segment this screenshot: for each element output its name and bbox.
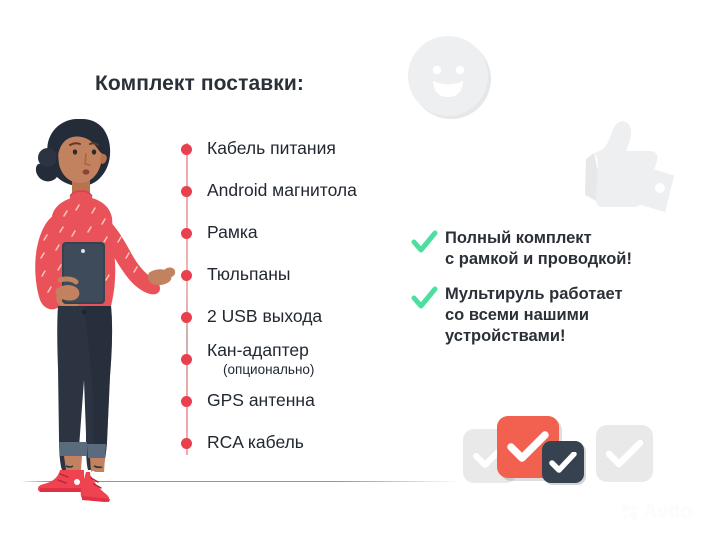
checkbox-cards-decoration (463, 416, 653, 488)
page-title: Комплект поставки: (95, 72, 304, 96)
bullet-dot-icon (181, 438, 192, 449)
list-item: Кан-адаптер (опционально) (181, 338, 431, 380)
list-item: Тюльпаны (181, 254, 431, 296)
bullet-dot-icon (181, 396, 192, 407)
benefits-list: Полный комплект с рамкой и проводкой! Му… (411, 228, 701, 361)
bullet-dot-icon (181, 354, 192, 365)
bullet-dot-icon (181, 186, 192, 197)
list-item-label: 2 USB выхода (207, 307, 322, 327)
list-item-label: Тюльпаны (207, 265, 290, 285)
check-icon (549, 452, 577, 473)
list-item-label: Android магнитола (207, 181, 357, 201)
list-item: Рамка (181, 212, 431, 254)
kit-contents-list: Кабель питания Android магнитола Рамка Т… (181, 128, 431, 464)
list-item-label: RCA кабель (207, 433, 304, 453)
list-item-note: (опционально) (207, 362, 314, 377)
checkbox-card-dark (542, 441, 584, 483)
avito-logo-icon (620, 502, 640, 522)
list-item-label: Кабель питания (207, 139, 336, 159)
list-item: GPS антенна (181, 380, 431, 422)
bullet-dot-icon (181, 144, 192, 155)
avito-watermark: Avito (620, 500, 693, 524)
thumbs-up-icon (572, 115, 684, 219)
list-item: Кабель питания (181, 128, 431, 170)
woman-pointing-with-tablet-illustration (14, 112, 178, 502)
benefit-label: Мультируль работает со всеми нашими устр… (445, 284, 623, 347)
benefit-item: Мультируль работает со всеми нашими устр… (411, 284, 701, 347)
bullet-dot-icon (181, 312, 192, 323)
ad-image-canvas: Комплект поставки: Кабель питания Androi… (0, 0, 720, 540)
smiley-face-icon (403, 31, 495, 123)
list-item-label: GPS антенна (207, 391, 315, 411)
bullet-dot-icon (181, 228, 192, 239)
list-item: Android магнитола (181, 170, 431, 212)
benefit-item: Полный комплект с рамкой и проводкой! (411, 228, 701, 270)
benefit-label: Полный комплект с рамкой и проводкой! (445, 228, 632, 270)
green-check-icon (411, 285, 438, 312)
list-item: RCA кабель (181, 422, 431, 464)
check-icon (606, 440, 643, 468)
bullet-dot-icon (181, 270, 192, 281)
avito-wordmark: Avito (643, 500, 693, 524)
list-item-label: Рамка (207, 223, 258, 243)
list-item-label: Кан-адаптер (207, 340, 309, 360)
green-check-icon (411, 229, 438, 256)
checkbox-card-grey-right (596, 425, 653, 482)
list-item: 2 USB выхода (181, 296, 431, 338)
